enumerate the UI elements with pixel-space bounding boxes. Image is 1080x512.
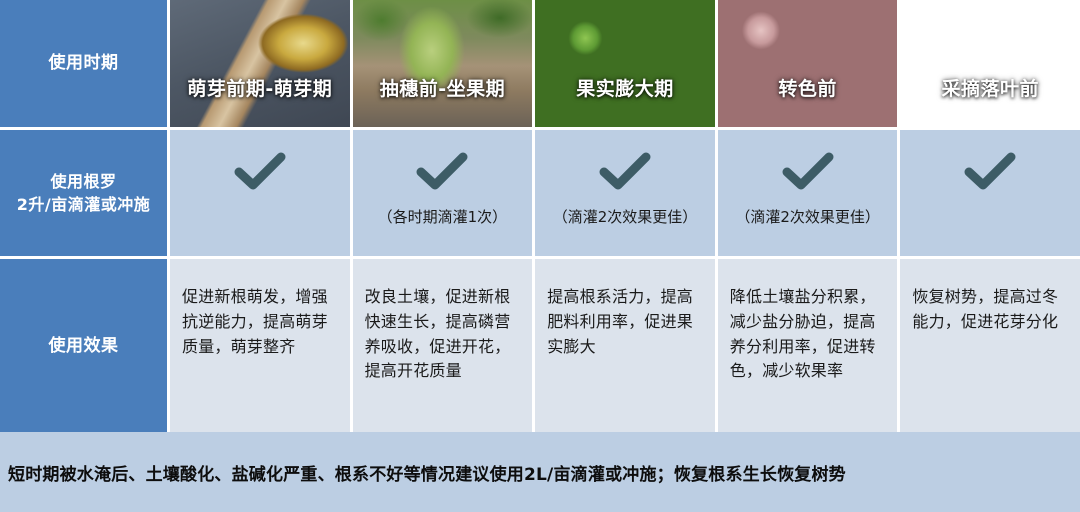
- row-label-usage-line1: 使用根罗: [17, 170, 150, 193]
- effect-cell-1: 改良土壤，促进新根快速生长，提高磷营养吸收，促进开花，提高开花质量: [353, 259, 533, 433]
- effect-cell-0: 促进新根萌发，增强抗逆能力，提高萌芽质量，萌芽整齐: [170, 259, 350, 433]
- check-icon: [233, 150, 287, 194]
- stage-caption-0: 萌芽前期-萌芽期: [170, 74, 350, 101]
- usage-note-3: （滴灌2次效果更佳）: [722, 208, 894, 226]
- stage-photo-2: 果实膨大期: [535, 0, 715, 127]
- stage-photo-4: 采摘落叶前: [900, 0, 1080, 127]
- stage-photo-3: 转色前: [718, 0, 898, 127]
- usage-cell-3: （滴灌2次效果更佳）: [718, 130, 898, 256]
- effect-cell-3: 降低土壤盐分积累，减少盐分胁迫，提高养分利用率，促进转色，减少软果率: [718, 259, 898, 433]
- check-icon: [963, 150, 1017, 194]
- stage-photo-0: 萌芽前期-萌芽期: [170, 0, 350, 127]
- check-icon: [598, 150, 652, 194]
- stage-caption-1: 抽穗前-坐果期: [353, 74, 533, 101]
- usage-note-2: （滴灌2次效果更佳）: [539, 208, 711, 226]
- row-label-period-text: 使用时期: [49, 51, 119, 76]
- effect-cell-2: 提高根系活力，提高肥料利用率，促进果实膨大: [535, 259, 715, 433]
- row-label-period: 使用时期: [0, 0, 167, 127]
- row-label-effect: 使用效果: [0, 259, 167, 433]
- row-label-usage: 使用根罗 2升/亩滴灌或冲施: [0, 130, 167, 256]
- stage-caption-3: 转色前: [718, 74, 898, 101]
- row-label-effect-text: 使用效果: [49, 334, 119, 359]
- usage-schedule-table: 使用时期 萌芽前期-萌芽期 抽穗前-坐果期 果实膨大期 转色前 采摘落叶前 使用…: [0, 0, 1080, 427]
- footer-note-text: 短时期被水淹后、土壤酸化、盐碱化严重、根系不好等情况建议使用2L/亩滴灌或冲施；…: [8, 460, 846, 485]
- usage-note-1: （各时期滴灌1次）: [357, 208, 529, 226]
- row-label-usage-line2: 2升/亩滴灌或冲施: [17, 193, 150, 216]
- stage-caption-4: 采摘落叶前: [900, 74, 1080, 101]
- usage-cell-2: （滴灌2次效果更佳）: [535, 130, 715, 256]
- stage-caption-2: 果实膨大期: [535, 74, 715, 101]
- check-icon: [781, 150, 835, 194]
- check-icon: [415, 150, 469, 194]
- footer-note-band: 短时期被水淹后、土壤酸化、盐碱化严重、根系不好等情况建议使用2L/亩滴灌或冲施；…: [0, 432, 1080, 512]
- stage-photo-1: 抽穗前-坐果期: [353, 0, 533, 127]
- effect-cell-4: 恢复树势，提高过冬能力，促进花芽分化: [900, 259, 1080, 433]
- slide-root: 使用时期 萌芽前期-萌芽期 抽穗前-坐果期 果实膨大期 转色前 采摘落叶前 使用…: [0, 0, 1080, 512]
- usage-cell-0: [170, 130, 350, 256]
- usage-cell-1: （各时期滴灌1次）: [353, 130, 533, 256]
- usage-cell-4: [900, 130, 1080, 256]
